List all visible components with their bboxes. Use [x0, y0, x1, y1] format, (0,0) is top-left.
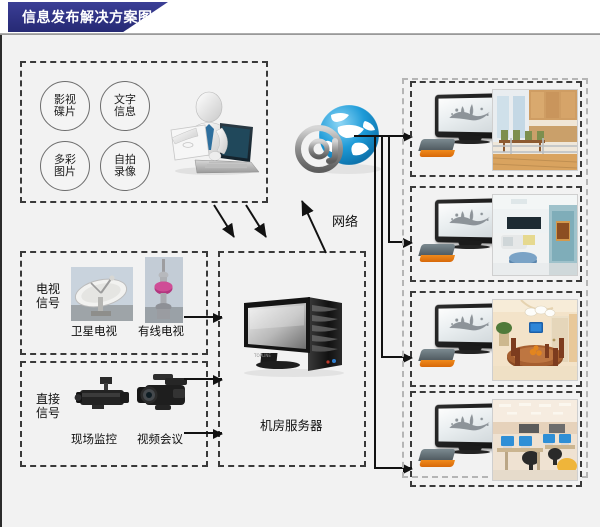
- media-player-box-3: [420, 349, 454, 369]
- page-title: 信息发布解决方案图: [22, 7, 153, 27]
- source-circle-color-picture[interactable]: 多彩 图片: [40, 141, 90, 191]
- satellite-tv-label: 卫星电视: [71, 325, 117, 338]
- source-circle-text-info[interactable]: 文字 信息: [100, 81, 150, 131]
- source-circle-video-disc[interactable]: 影视 碟片: [40, 81, 90, 131]
- tv-tower-icon: [145, 257, 183, 327]
- tv-signal-label-line2: 信号: [28, 297, 68, 311]
- bus-line-1: [374, 135, 376, 467]
- arrow-sources-to-signal-2: [244, 203, 284, 245]
- server-computer-icon: TOPLINE: [238, 291, 350, 369]
- arrow-sources-to-server: [184, 378, 222, 380]
- media-player-box-2: [420, 244, 454, 264]
- arrow-tvsignal-to-server: [184, 316, 222, 318]
- scene-photo-1: [492, 89, 578, 171]
- source-circle-self-recording[interactable]: 自拍 录像: [100, 141, 150, 191]
- globe-network-icon: [293, 97, 379, 169]
- svg-text:TOPLINE: TOPLINE: [253, 353, 271, 358]
- network-label: 网络: [332, 211, 358, 230]
- server-label: 机房服务器: [260, 415, 323, 434]
- tv-signal-group-label: 电视 信号: [28, 283, 68, 311]
- diagram-canvas: 影视 碟片 文字 信息 多彩 图片 自拍 录像: [0, 35, 600, 527]
- cctv-camera-icon: [74, 375, 134, 423]
- circle-line-2: 信息: [114, 106, 136, 118]
- scene-photo-3: [492, 299, 578, 381]
- arrow-directsignal-to-server: [184, 432, 222, 434]
- scene-photo-4: [492, 399, 578, 481]
- direct-signal-label-line1: 直接: [28, 393, 68, 407]
- operator-with-laptop-icon: [165, 90, 265, 176]
- circle-line-2: 录像: [114, 166, 136, 178]
- bus-line-3: [388, 135, 390, 241]
- tv-signal-label-line1: 电视: [28, 283, 68, 297]
- scene-photo-2: [492, 194, 578, 276]
- direct-signal-group-label: 直接 信号: [28, 393, 68, 421]
- solution-diagram-page: 信息发布解决方案图 影视 碟片 文字 信息 多彩 图片 自拍: [0, 0, 600, 527]
- direct-signal-label-line2: 信号: [28, 407, 68, 421]
- circle-line-2: 碟片: [54, 106, 76, 118]
- bus-line-2: [381, 135, 383, 356]
- circle-line-2: 图片: [54, 166, 76, 178]
- satellite-dish-icon: [71, 267, 133, 325]
- header-banner: 信息发布解决方案图: [0, 0, 600, 36]
- onsite-monitor-label: 现场监控: [71, 433, 117, 446]
- media-player-box-1: [420, 139, 454, 159]
- video-conference-label: 视频会议: [137, 433, 183, 446]
- cable-tv-label: 有线电视: [138, 325, 184, 338]
- media-player-box-4: [420, 449, 454, 469]
